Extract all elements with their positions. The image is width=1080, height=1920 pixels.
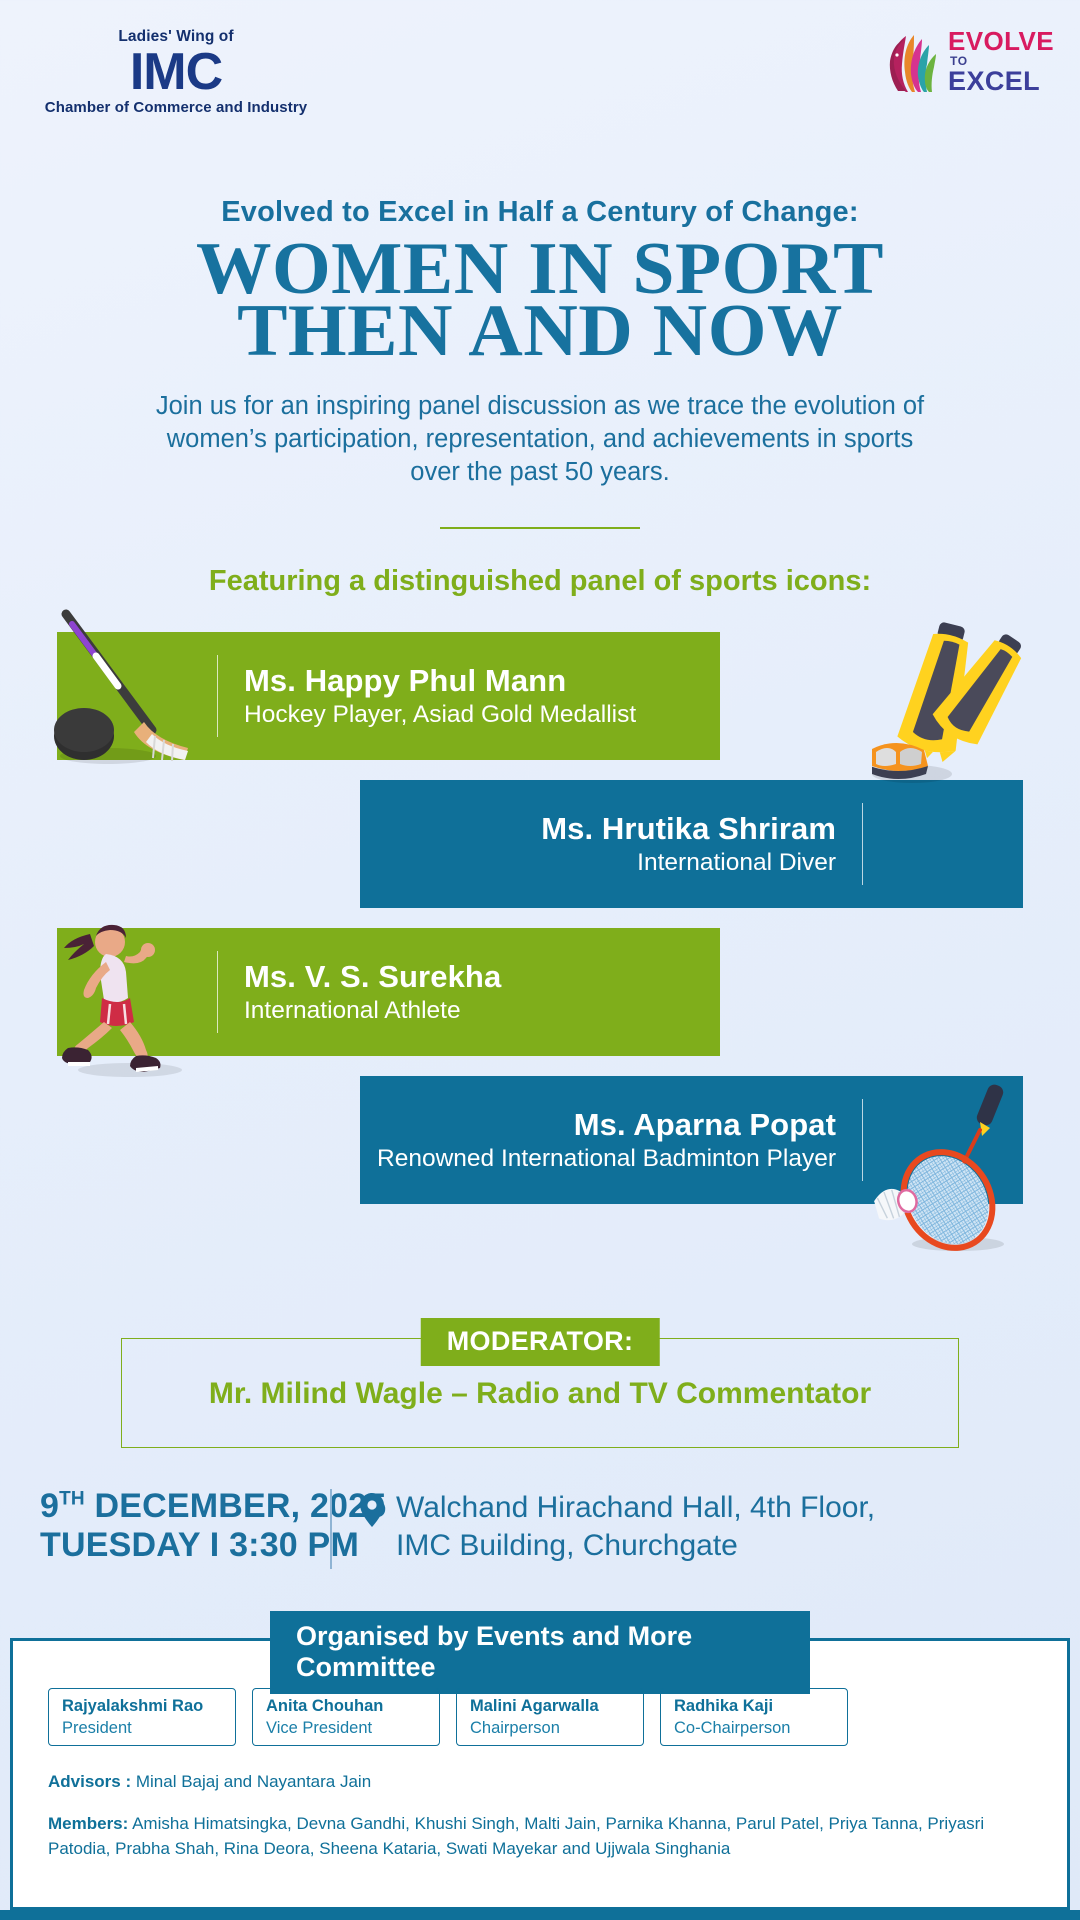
panelist-name: Ms. Happy Phul Mann	[244, 663, 636, 698]
venue-line-2: IMC Building, Churchgate	[396, 1527, 875, 1565]
officer-name: Rajyalakshmi Rao	[62, 1697, 223, 1717]
excel-word: EXCEL	[948, 68, 1054, 95]
officer-name: Anita Chouhan	[266, 1697, 427, 1717]
members-line: Members: Amisha Himatsingka, Devna Gandh…	[48, 1812, 1008, 1862]
event-day-number: 9	[40, 1487, 59, 1525]
map-pin-icon	[360, 1493, 384, 1527]
officer-card: Anita Chouhan Vice President	[252, 1688, 440, 1746]
footer-bar	[0, 1910, 1080, 1920]
card-divider-rule	[862, 1099, 863, 1181]
badminton-racket-and-shuttlecock-icon	[870, 1078, 1030, 1253]
event-month-year: DECEMBER, 2025	[85, 1487, 387, 1525]
event-details-separator	[330, 1489, 332, 1569]
officer-name: Radhika Kaji	[674, 1697, 835, 1717]
poster-description: Join us for an inspiring panel discussio…	[140, 390, 940, 489]
panelist-text-1: Ms. Happy Phul Mann Hockey Player, Asiad…	[218, 663, 636, 730]
event-venue-block: Walchand Hirachand Hall, 4th Floor, IMC …	[360, 1489, 875, 1565]
panelist-role: Hockey Player, Asiad Gold Medallist	[244, 700, 636, 729]
event-day-suffix: TH	[59, 1489, 85, 1510]
advisors-line: Advisors : Minal Bajaj and Nayantara Jai…	[48, 1772, 371, 1792]
hockey-stick-and-puck-icon	[48, 608, 198, 768]
event-date-line1: 9TH DECEMBER, 2025	[40, 1487, 386, 1526]
officer-card: Rajyalakshmi Rao President	[48, 1688, 236, 1746]
card-divider-rule	[862, 803, 863, 885]
evolve-word: EVOLVE	[948, 28, 1054, 54]
venue-line-1: Walchand Hirachand Hall, 4th Floor,	[396, 1489, 875, 1527]
evolve-logo-wordmark: EVOLVE TO EXCEL	[948, 28, 1054, 95]
officer-role: Co-Chairperson	[674, 1718, 835, 1739]
panelist-role: Renowned International Badminton Player	[377, 1144, 836, 1173]
event-date-line2: TUESDAY I 3:30 PM	[40, 1526, 386, 1565]
moderator-label: MODERATOR:	[421, 1318, 660, 1366]
panelist-text-4: Ms. Aparna Popat Renowned International …	[377, 1107, 862, 1174]
poster-title: WOMEN IN SPORT THEN AND NOW	[0, 238, 1080, 362]
panelist-name: Ms. Aparna Popat	[377, 1107, 836, 1142]
poster-header: Ladies' Wing of IMC Chamber of Commerce …	[0, 0, 1080, 130]
event-poster: Ladies' Wing of IMC Chamber of Commerce …	[0, 0, 1080, 1920]
members-names: Amisha Himatsingka, Devna Gandhi, Khushi…	[48, 1814, 984, 1858]
imc-logo-line3: Chamber of Commerce and Industry	[26, 99, 326, 116]
poster-kicker: Evolved to Excel in Half a Century of Ch…	[0, 196, 1080, 229]
advisors-names: Minal Bajaj and Nayantara Jain	[131, 1772, 371, 1791]
moderator-name: Mr. Milind Wagle – Radio and TV Commenta…	[121, 1377, 959, 1411]
panelist-role: International Athlete	[244, 996, 501, 1025]
evolve-to-excel-logo: EVOLVE TO EXCEL	[884, 28, 1054, 95]
officer-card: Radhika Kaji Co-Chairperson	[660, 1688, 848, 1746]
event-date-block: 9TH DECEMBER, 2025 TUESDAY I 3:30 PM	[40, 1487, 386, 1566]
officer-role: Chairperson	[470, 1718, 631, 1739]
officer-role: Vice President	[266, 1718, 427, 1739]
panelist-name: Ms. Hrutika Shriram	[541, 811, 836, 846]
running-woman-icon	[50, 918, 220, 1078]
officer-card: Malini Agarwalla Chairperson	[456, 1688, 644, 1746]
panelist-text-3: Ms. V. S. Surekha International Athlete	[218, 959, 501, 1026]
featuring-label: Featuring a distinguished panel of sport…	[0, 565, 1080, 598]
imc-logo-acronym: IMC	[26, 48, 326, 98]
panelist-card-2: Ms. Hrutika Shriram International Diver	[360, 780, 1023, 908]
officer-role: President	[62, 1718, 223, 1739]
committee-title: Organised by Events and More Committee	[270, 1611, 810, 1694]
poster-title-line2: THEN AND NOW	[0, 300, 1080, 362]
officer-name: Malini Agarwalla	[470, 1697, 631, 1717]
panelist-name: Ms. V. S. Surekha	[244, 959, 501, 994]
section-divider	[440, 527, 640, 529]
event-details: 9TH DECEMBER, 2025 TUESDAY I 3:30 PM Wal…	[0, 1485, 1080, 1590]
panelist-text-2: Ms. Hrutika Shriram International Diver	[541, 811, 862, 878]
diving-fins-and-goggles-icon	[872, 618, 1022, 798]
committee-officers: Rajyalakshmi Rao President Anita Chouhan…	[48, 1688, 848, 1746]
advisors-label: Advisors :	[48, 1772, 131, 1791]
feather-face-icon	[884, 30, 940, 94]
event-venue-text: Walchand Hirachand Hall, 4th Floor, IMC …	[396, 1489, 875, 1565]
panelist-role: International Diver	[541, 848, 836, 877]
members-label: Members:	[48, 1814, 128, 1833]
imc-ladies-wing-logo: Ladies' Wing of IMC Chamber of Commerce …	[26, 28, 326, 116]
